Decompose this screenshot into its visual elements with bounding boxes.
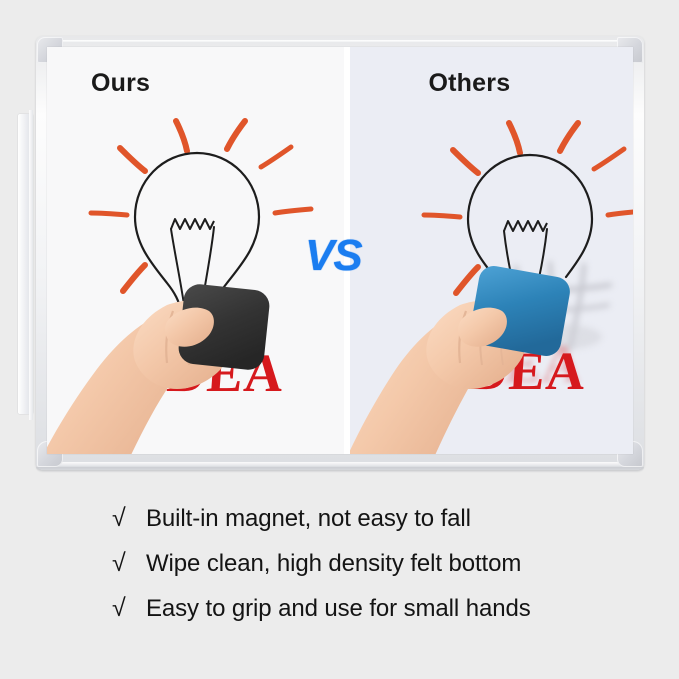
whiteboard: Ours [36, 36, 644, 470]
check-icon: √ [112, 593, 146, 623]
versus-label: VS [305, 231, 362, 281]
panel-title-ours: Ours [91, 69, 150, 98]
frame-bottom-rail [40, 462, 640, 466]
wall-mount-rail [18, 114, 33, 414]
feature-item: √ Easy to grip and use for small hands [112, 593, 582, 638]
whiteboard-surface: Ours [47, 47, 633, 454]
feature-list: √ Built-in magnet, not easy to fall √ Wi… [112, 503, 582, 638]
feature-label: Built-in magnet, not easy to fall [146, 505, 471, 533]
panel-title-others: Others [429, 69, 511, 98]
check-icon: √ [112, 548, 146, 578]
frame-bottom-shadow [36, 467, 644, 472]
feature-label: Easy to grip and use for small hands [146, 595, 531, 623]
panel-others: Others [350, 47, 633, 454]
feature-item: √ Built-in magnet, not easy to fall [112, 503, 582, 548]
hand-with-black-eraser [67, 265, 277, 454]
check-icon: √ [112, 503, 146, 533]
feature-item: √ Wipe clean, high density felt bottom [112, 548, 582, 593]
frame-top-rail [40, 40, 640, 42]
feature-label: Wipe clean, high density felt bottom [146, 550, 521, 578]
hand-with-blue-eraser [358, 243, 573, 454]
panel-ours: Ours [47, 47, 344, 454]
